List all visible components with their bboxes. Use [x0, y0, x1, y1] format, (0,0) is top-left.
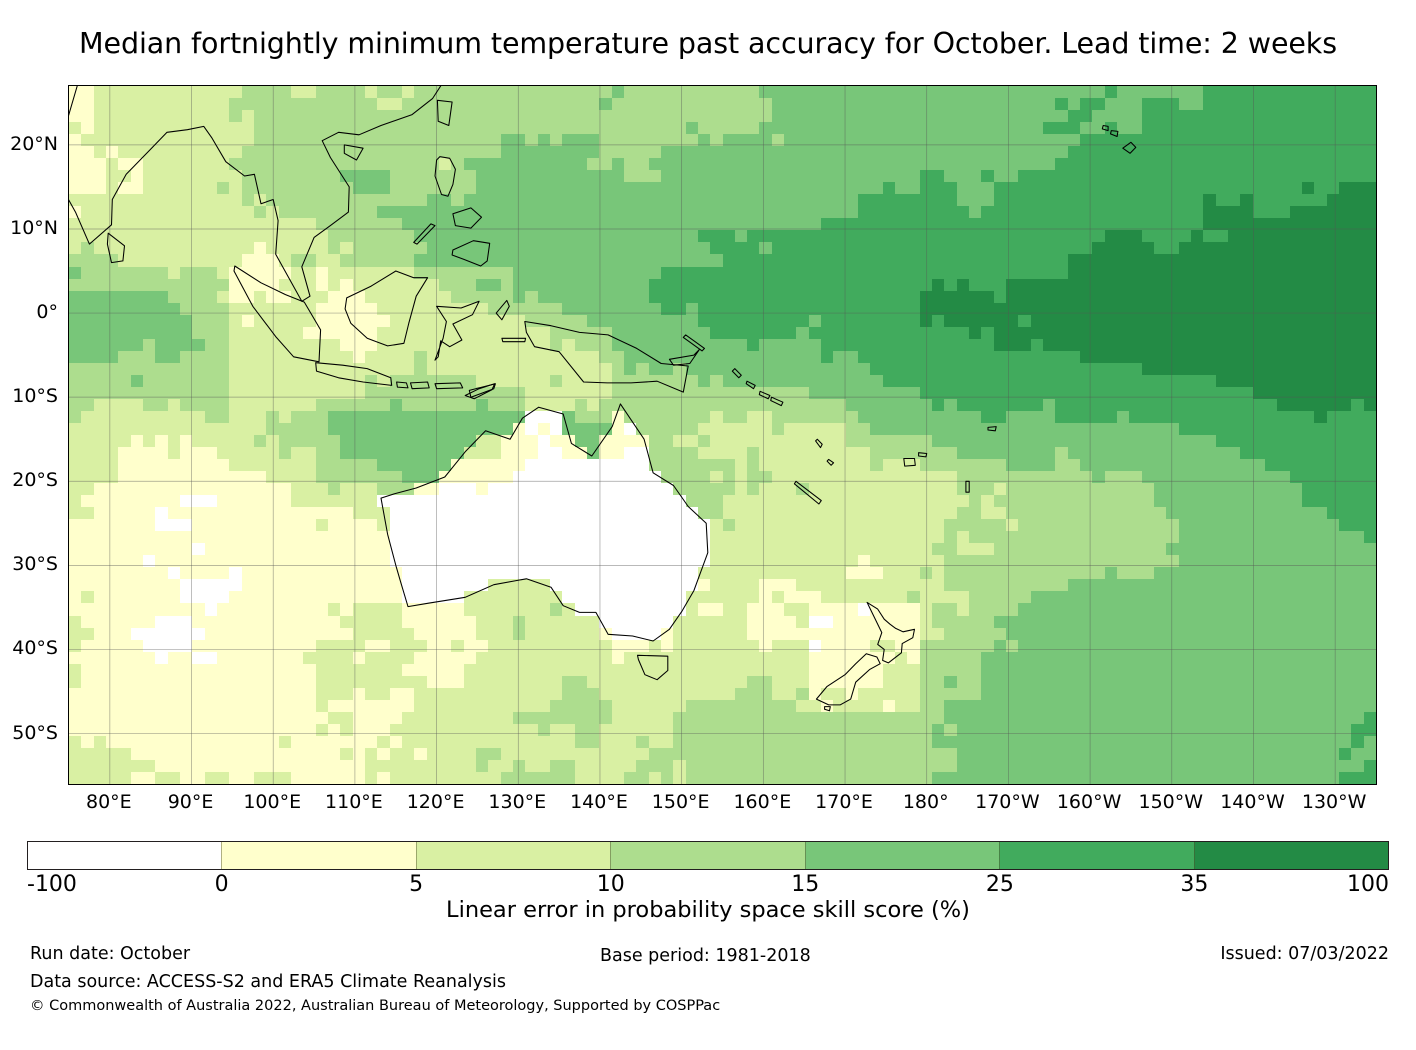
- skill-score-heatmap-raster: [69, 86, 1376, 784]
- footer-copyright: © Commonwealth of Australia 2022, Austra…: [30, 998, 720, 1014]
- y-axis-tick-3: 10°S: [12, 385, 58, 407]
- colorbar-segment-5: [999, 842, 1193, 869]
- x-axis-tick-7: 150°E: [652, 791, 710, 813]
- y-axis-tick-1: 10°N: [10, 217, 58, 239]
- y-axis-tick-7: 50°S: [12, 722, 58, 744]
- colorbar-segment-3: [610, 842, 804, 869]
- colorbar-tick-4: 15: [791, 872, 819, 897]
- map-plot-area: [68, 85, 1377, 785]
- y-axis-tick-5: 30°S: [12, 553, 58, 575]
- x-axis-tick-12: 160°W: [1057, 791, 1122, 813]
- colorbar-segment-2: [416, 842, 610, 869]
- title-bar: Median fortnightly minimum temperature p…: [0, 0, 1416, 84]
- colorbar-axis-label: Linear error in probability space skill …: [0, 897, 1416, 923]
- colorbar-segment-4: [805, 842, 999, 869]
- x-axis-tick-13: 150°W: [1139, 791, 1204, 813]
- x-axis-tick-14: 140°W: [1220, 791, 1285, 813]
- colorbar-tick-6: 35: [1180, 872, 1208, 897]
- colorbar-tick-5: 25: [986, 872, 1014, 897]
- x-axis-tick-10: 180°: [903, 791, 949, 813]
- y-axis-tick-6: 40°S: [12, 637, 58, 659]
- colorbar-tick-3: 10: [597, 872, 625, 897]
- x-axis-tick-9: 170°E: [815, 791, 873, 813]
- x-axis-tick-1: 90°E: [168, 791, 214, 813]
- x-axis-tick-4: 120°E: [407, 791, 465, 813]
- colorbar: -1000510152535100: [27, 841, 1389, 870]
- page-title: Median fortnightly minimum temperature p…: [79, 27, 1337, 60]
- footer: Run date: October Base period: 1981-2018…: [0, 938, 1416, 1048]
- y-axis-tick-2: 0°: [36, 301, 58, 323]
- colorbar-segment-0: [28, 842, 221, 869]
- footer-data-source: Data source: ACCESS-S2 and ERA5 Climate …: [30, 972, 506, 992]
- colorbar-tick-7: 100: [1347, 872, 1389, 897]
- x-axis-tick-15: 130°W: [1302, 791, 1367, 813]
- colorbar-tick-1: 0: [215, 872, 229, 897]
- colorbar-gradient-strip: [27, 841, 1389, 870]
- footer-run-date: Run date: October: [30, 944, 190, 964]
- x-axis-tick-8: 160°E: [733, 791, 791, 813]
- x-axis-tick-6: 140°E: [570, 791, 628, 813]
- colorbar-tick-0: -100: [27, 872, 77, 897]
- y-axis-tick-4: 20°S: [12, 469, 58, 491]
- footer-issued-date: Issued: 07/03/2022: [1220, 944, 1389, 964]
- x-axis-tick-0: 80°E: [86, 791, 132, 813]
- y-axis-tick-0: 20°N: [10, 133, 58, 155]
- colorbar-tick-2: 5: [409, 872, 423, 897]
- x-axis-tick-5: 130°E: [488, 791, 546, 813]
- x-axis-tick-2: 100°E: [243, 791, 301, 813]
- colorbar-segment-6: [1194, 842, 1388, 869]
- x-axis-tick-3: 110°E: [325, 791, 383, 813]
- x-axis-tick-11: 170°W: [975, 791, 1040, 813]
- colorbar-segment-1: [221, 842, 415, 869]
- footer-base-period: Base period: 1981-2018: [600, 946, 811, 966]
